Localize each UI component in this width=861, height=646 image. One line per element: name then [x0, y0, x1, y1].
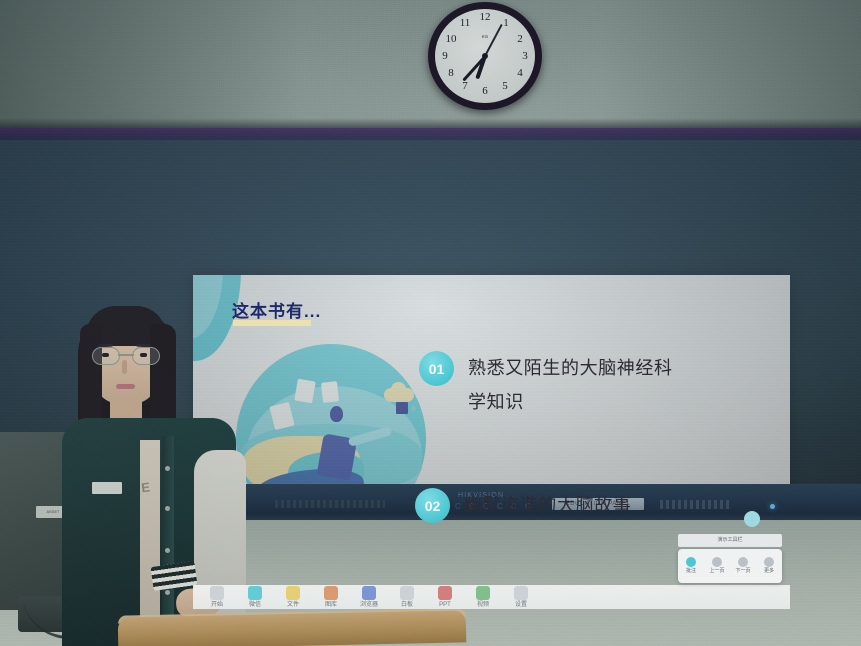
bullet-number-badge: 02 [415, 488, 450, 523]
presenter-eye [102, 353, 109, 357]
clock-number-5: 5 [498, 81, 512, 92]
taskbar-item-wechat[interactable]: 微信 [241, 586, 269, 609]
annotate-icon [686, 557, 696, 567]
floating-toolbar-item-annotate[interactable]: 批注 [680, 557, 702, 575]
more-icon [764, 557, 774, 567]
clock-number-7: 7 [458, 81, 472, 92]
clock-number-12: 12 [478, 12, 492, 23]
taskbar-item-gallery[interactable]: 图库 [317, 586, 345, 609]
floating-toolbar[interactable]: 批注上一页下一页更多 [678, 549, 782, 583]
next-page-icon [738, 557, 748, 567]
clock-number-8: 8 [444, 68, 458, 79]
taskbar-item-label: 设置 [515, 602, 527, 608]
bullet-number-badge: 01 [419, 351, 454, 386]
slide-title: 这本书有... [232, 297, 321, 322]
slide-bullet-01: 01 熟悉又陌生的大脑神经科 学知识 [419, 351, 673, 419]
browser-icon [362, 586, 376, 600]
clock-number-3: 3 [518, 51, 532, 62]
taskbar-item-ppt[interactable]: PPT [431, 586, 459, 609]
start-icon [210, 586, 224, 600]
wechat-icon [248, 586, 262, 600]
floating-toolbar-item-label: 下一页 [735, 568, 750, 574]
taskbar-item-label: 微信 [249, 602, 261, 608]
floating-toolbar-item-next-page[interactable]: 下一页 [732, 557, 754, 575]
taskbar-item-start[interactable]: 开始 [203, 586, 231, 609]
taskbar-item-video[interactable]: 视频 [469, 586, 497, 609]
floating-toolbar-item-prev-page[interactable]: 上一页 [706, 557, 728, 575]
presenter-name-tag [92, 482, 122, 494]
clock-second-hand [484, 24, 502, 56]
folder-icon [286, 586, 300, 600]
wall-clock: ea 12 1 2 3 4 5 6 7 8 9 10 11 [428, 2, 542, 110]
taskbar-item-label: 开始 [211, 602, 223, 608]
jacket-button [165, 506, 170, 511]
panel-vents [660, 500, 732, 509]
clock-number-2: 2 [513, 34, 527, 45]
floating-toolbar-item-more[interactable]: 更多 [758, 557, 780, 575]
podium [118, 610, 467, 646]
power-led-icon [770, 504, 775, 509]
presenter-nose [122, 360, 127, 374]
taskbar-item-label: 浏览器 [360, 602, 378, 608]
taskbar-item-label: 图库 [325, 602, 337, 608]
presenter-mouth [116, 384, 135, 389]
video-icon [476, 586, 490, 600]
taskbar-item-settings[interactable]: 设置 [507, 586, 535, 609]
jacket-button [165, 466, 170, 471]
glasses-bridge [118, 354, 134, 356]
floating-toolbar-title: 演示工具栏 [678, 534, 782, 547]
taskbar-item-whiteboard[interactable]: 白板 [393, 586, 421, 609]
taskbar-item-folder[interactable]: 文件 [279, 586, 307, 609]
jacket-button [165, 548, 170, 553]
clock-number-4: 4 [513, 68, 527, 79]
clock-number-6: 6 [478, 86, 492, 97]
prev-page-icon [712, 557, 722, 567]
os-taskbar[interactable]: 开始微信文件图库浏览器白板PPT视频设置 [193, 585, 790, 609]
presenter-eye [140, 353, 147, 357]
floating-handle-icon[interactable] [744, 511, 760, 527]
clock-face: ea 12 1 2 3 4 5 6 7 8 9 10 11 [435, 9, 535, 103]
bullet-text: 熟悉又陌生的大脑神经科 学知识 [468, 351, 673, 419]
screenshot-scene: ea 12 1 2 3 4 5 6 7 8 9 10 11 [0, 0, 861, 646]
taskbar-item-label: PPT [439, 602, 451, 608]
floating-toolbar-item-label: 批注 [686, 568, 696, 574]
slide-bullet-02: 02 幽默诙谐的大脑故事 [415, 488, 631, 523]
clock-number-11: 11 [458, 18, 472, 29]
clock-number-10: 10 [444, 34, 458, 45]
panel-speaker-grille [275, 500, 385, 508]
whiteboard-icon [400, 586, 414, 600]
clock-center-pin [482, 53, 488, 59]
jacket-button [165, 590, 170, 595]
taskbar-item-label: 白板 [401, 602, 413, 608]
clock-number-9: 9 [438, 51, 452, 62]
taskbar-item-browser[interactable]: 浏览器 [355, 586, 383, 609]
settings-icon [514, 586, 528, 600]
taskbar-item-label: 文件 [287, 602, 299, 608]
gallery-icon [324, 586, 338, 600]
clock-brand-label: ea [482, 34, 488, 40]
wall-shadow-left [0, 0, 300, 132]
taskbar-item-label: 视频 [477, 602, 489, 608]
presenter-jacket-left [62, 420, 140, 646]
presenter-hair-left [80, 324, 102, 432]
floating-toolbar-item-label: 更多 [764, 568, 774, 574]
wall-shadow-right [601, 0, 861, 132]
bullet-text: 幽默诙谐的大脑故事 [464, 488, 631, 522]
floating-toolbar-item-label: 上一页 [709, 568, 724, 574]
ppt-icon [438, 586, 452, 600]
